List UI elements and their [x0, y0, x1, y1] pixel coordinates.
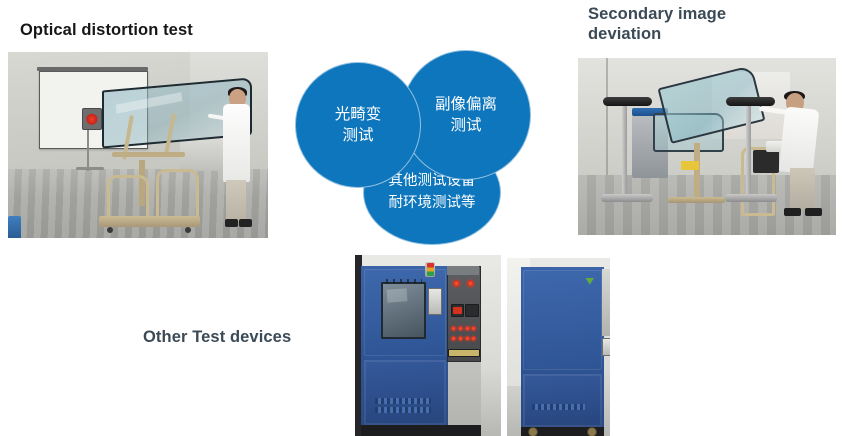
chamber-lower-door [364, 360, 446, 425]
tripod-head-right [726, 97, 775, 106]
venn-secondary-line2: 测试 [450, 115, 481, 136]
chamber-vent-grille [532, 404, 586, 410]
venn-optical-line2: 测试 [342, 125, 373, 146]
photo-optical-distortion-test [8, 52, 268, 238]
page-title-optical-distortion: Optical distortion test [20, 20, 193, 40]
chamber-caster [528, 427, 538, 436]
slide-canvas: Optical distortion test Secondary image … [0, 0, 846, 436]
dark-equipment-box [753, 150, 779, 173]
page-title-secondary-image-deviation: Secondary image deviation [588, 4, 726, 44]
glass-cart [668, 143, 725, 212]
chamber-vent-grille [375, 398, 430, 404]
window-label-text [386, 279, 422, 283]
chamber-switch[interactable] [465, 304, 479, 317]
chamber-vent-grille [375, 407, 430, 413]
chamber-switch-red [453, 307, 461, 314]
photo-test-chamber-closed [507, 258, 610, 436]
chamber-door-handle [428, 288, 442, 315]
tripod-base-left [601, 194, 653, 202]
lamp-base [76, 167, 105, 170]
chamber-indicator-led [458, 326, 463, 331]
chamber-panel-strip [448, 349, 479, 356]
venn-diagram: 其他测试设备 耐环境测试等 副像偏离 测试 光畸变 测试 [288, 42, 538, 252]
stand-top-beam [112, 152, 185, 157]
chamber-switch[interactable] [451, 304, 465, 317]
background-equipment-rack [180, 138, 229, 171]
chamber-tower-lights [427, 263, 434, 276]
window-glare [386, 289, 407, 303]
tripod-base-right [725, 194, 777, 202]
chamber-base-plinth [361, 425, 481, 436]
lamp-pole [87, 125, 89, 172]
technician-lab-coat [778, 106, 818, 175]
chamber-viewing-window [381, 282, 426, 338]
photo-test-chamber-with-panel [355, 255, 501, 436]
cart-caster [107, 227, 113, 233]
venn-circle-secondary-image-deviation[interactable]: 副像偏离 测试 [401, 50, 531, 180]
photo-secondary-image-deviation [578, 58, 836, 235]
technician-lab-coat [223, 104, 250, 182]
chamber-door-handle [602, 338, 610, 356]
red-indicator-lamp [82, 108, 102, 130]
chamber-caster [587, 427, 597, 436]
technician-legs [790, 168, 816, 210]
blue-floor-box [8, 216, 21, 238]
technician-legs [226, 180, 246, 221]
page-title-other-test-devices: Other Test devices [143, 327, 291, 347]
tripod-head-left [603, 97, 652, 106]
chamber-indicator-led [465, 326, 470, 331]
venn-circle-optical-distortion[interactable]: 光畸变 测试 [295, 62, 421, 188]
chamber-indicator-led [451, 326, 456, 331]
technician-shoe [225, 219, 238, 226]
venn-secondary-line1: 副像偏离 [435, 94, 497, 115]
venn-other-line2: 耐环境测试等 [389, 193, 476, 215]
chamber-lower-door [523, 374, 601, 427]
wall-seam [606, 58, 608, 175]
cart-caster [185, 227, 191, 233]
cart-deck [99, 216, 200, 227]
chamber-panel-top-strip [447, 266, 479, 275]
technician-shoe [805, 208, 822, 216]
tripod-pole-left [622, 106, 627, 196]
tripod-pole-right [746, 106, 751, 196]
yellow-label [681, 161, 699, 170]
chamber-indicator-led [471, 326, 476, 331]
technician-shoe [784, 208, 801, 216]
technician-shoe [239, 219, 252, 226]
chamber-side-edge [602, 269, 610, 337]
chamber-upper-door [523, 270, 601, 370]
venn-optical-line1: 光畸变 [335, 104, 382, 125]
